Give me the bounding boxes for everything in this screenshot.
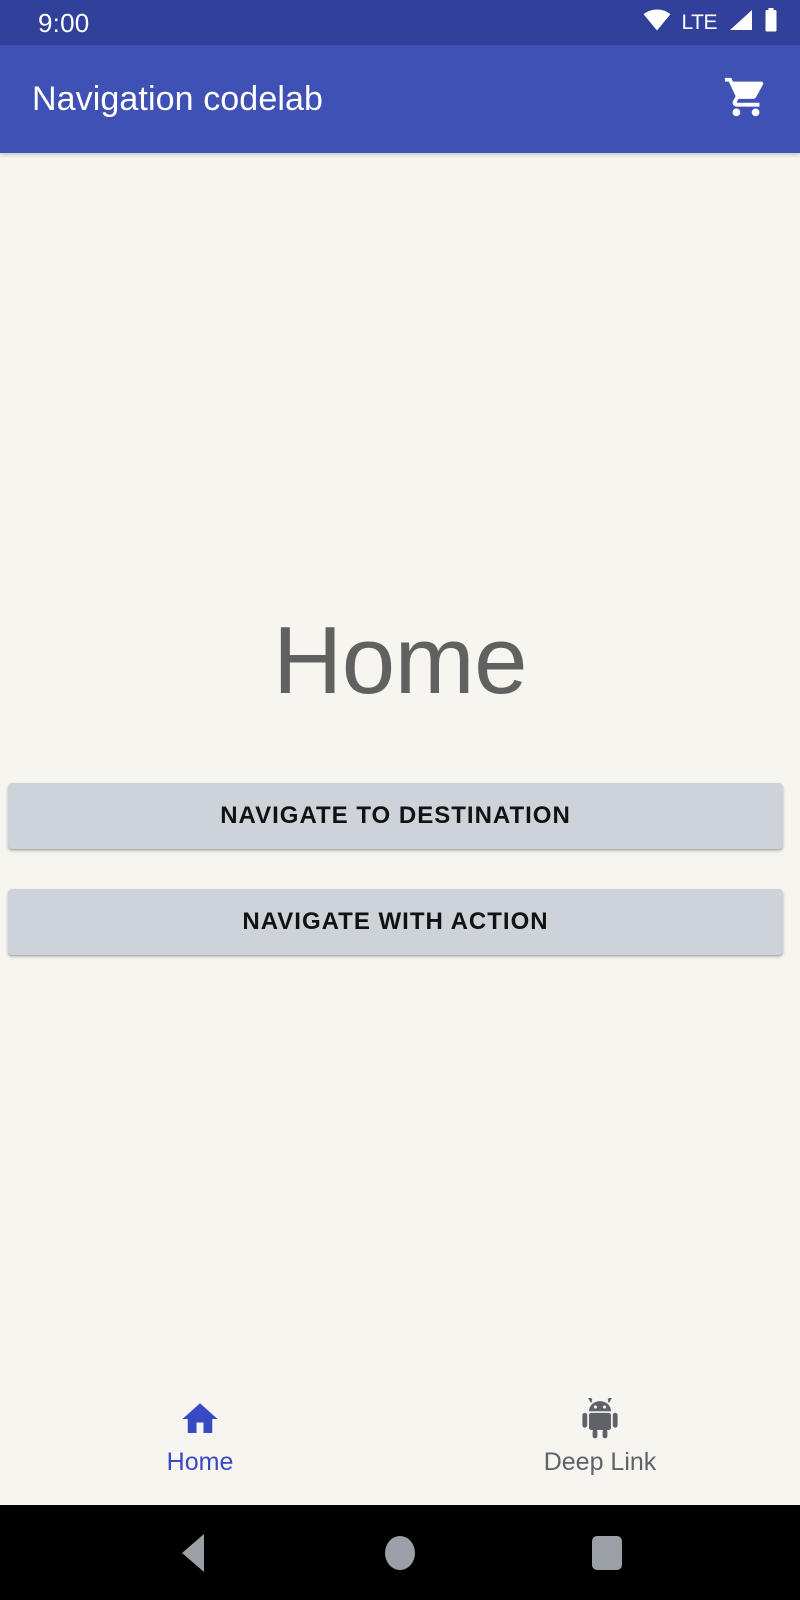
home-icon xyxy=(178,1397,222,1441)
app-bar: Navigation codelab xyxy=(0,45,800,153)
phone-screen: 9:00 LTE Navigation codelab xyxy=(0,0,800,1600)
action-button-group: NAVIGATE TO DESTINATION NAVIGATE WITH AC… xyxy=(8,783,783,955)
battery-icon xyxy=(764,8,778,37)
triangle-left-icon xyxy=(182,1534,204,1572)
shopping-cart-button[interactable] xyxy=(720,73,772,125)
system-home-button[interactable] xyxy=(365,1518,435,1588)
system-back-button[interactable] xyxy=(158,1518,228,1588)
main-content: Home NAVIGATE TO DESTINATION NAVIGATE WI… xyxy=(0,153,800,1505)
lte-label: LTE xyxy=(682,12,717,33)
bottom-nav-item-home[interactable]: Home xyxy=(0,1397,400,1475)
signal-icon xyxy=(728,9,753,36)
system-recents-button[interactable] xyxy=(572,1518,642,1588)
shopping-cart-icon xyxy=(723,74,769,125)
bottom-nav-label-deep-link: Deep Link xyxy=(544,1450,657,1475)
android-robot-icon xyxy=(578,1397,622,1441)
navigate-with-action-button[interactable]: NAVIGATE WITH ACTION xyxy=(8,889,783,955)
bottom-navigation-bar: Home xyxy=(0,1380,800,1505)
bottom-nav-label-home: Home xyxy=(167,1450,234,1475)
status-bar: 9:00 LTE xyxy=(0,0,800,45)
system-navigation-bar xyxy=(0,1505,800,1600)
status-bar-icons: LTE xyxy=(643,8,778,37)
status-bar-clock: 9:00 xyxy=(38,10,89,36)
bottom-nav-item-deep-link[interactable]: Deep Link xyxy=(400,1397,800,1475)
wifi-icon xyxy=(643,9,671,36)
app-bar-title: Navigation codelab xyxy=(32,82,323,116)
square-icon xyxy=(592,1536,622,1570)
navigate-to-destination-button[interactable]: NAVIGATE TO DESTINATION xyxy=(8,783,783,849)
page-title: Home xyxy=(0,608,800,714)
circle-icon xyxy=(385,1536,415,1570)
